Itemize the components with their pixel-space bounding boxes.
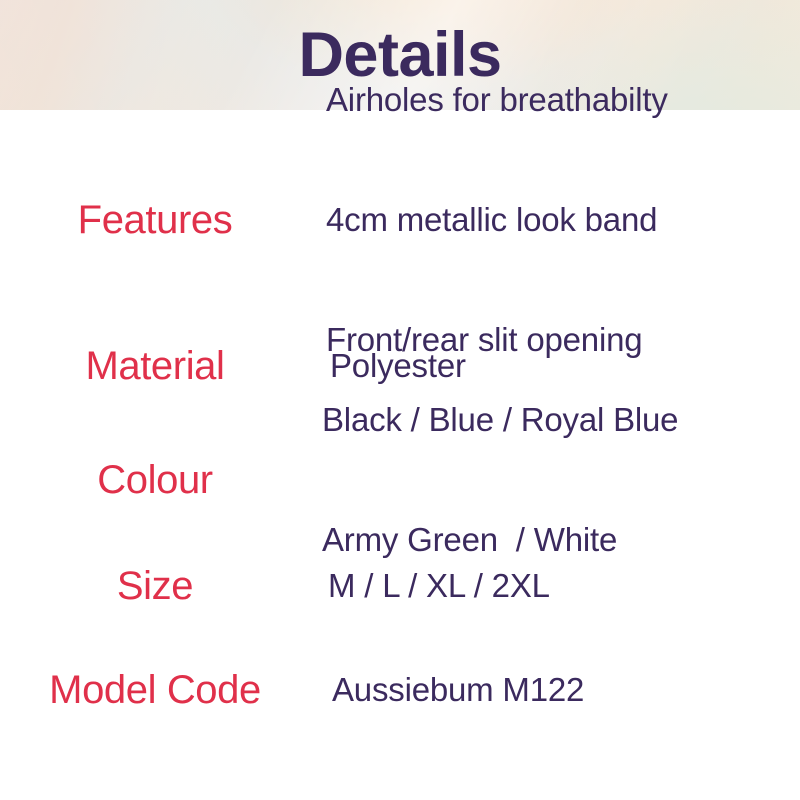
detail-label-size: Size: [0, 565, 310, 607]
detail-label-colour: Colour: [0, 459, 310, 501]
detail-value-line: 4cm metallic look band: [326, 200, 800, 240]
detail-label-model-code: Model Code: [0, 669, 310, 711]
product-details-table: Features Airholes for breathabilty 4cm m…: [0, 110, 800, 800]
detail-label-material: Material: [0, 345, 310, 387]
table-row: Model Code Aussiebum M122: [0, 660, 800, 720]
detail-label-features: Features: [0, 199, 310, 241]
detail-value-line: Black / Blue / Royal Blue: [322, 400, 800, 440]
page-title: Details: [0, 0, 800, 110]
detail-value-model-code: Aussiebum M122: [310, 590, 800, 790]
detail-value-line: Aussiebum M122: [332, 670, 800, 710]
page-header-banner: Details: [0, 0, 800, 110]
